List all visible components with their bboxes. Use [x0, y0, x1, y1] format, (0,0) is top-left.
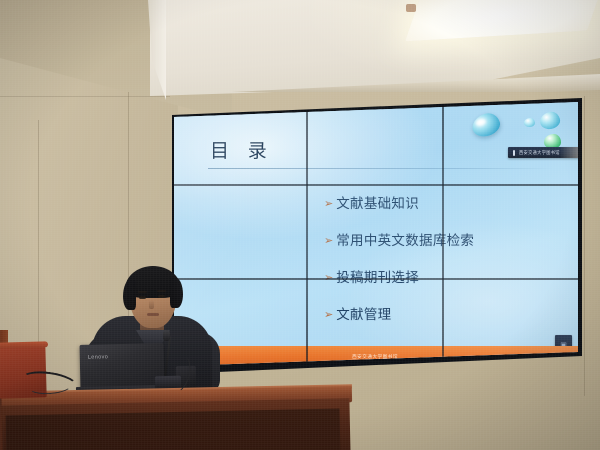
podium-shadow	[6, 409, 341, 450]
presenter-mouth	[147, 313, 159, 316]
water-droplet-icon	[469, 110, 502, 140]
videowall-seam	[172, 278, 578, 280]
presenter-eyebrow	[138, 291, 147, 293]
microphone-head-icon	[163, 330, 170, 341]
presenter-eyebrow	[157, 290, 166, 292]
slide-bullet-list: ➢ 文献基础知识 ➢ 常用中英文数据库检索 ➢ 投稿期刊选择 ➢ 文献管理	[324, 192, 474, 323]
logo-mark-icon	[513, 150, 515, 156]
bullet-label: 投稿期刊选择	[336, 266, 419, 286]
presentation-slide: 目 录 西安交通大学图书馆 ➢ 文献基础知识 ➢ 常用中英文数据库检索	[172, 100, 578, 368]
presenter-nose	[149, 300, 154, 309]
bullet-label: 常用中英文数据库检索	[336, 229, 474, 249]
bullet-arrow-icon: ➢	[324, 236, 333, 247]
title-underline	[208, 168, 553, 169]
bullet-label: 文献基础知识	[336, 192, 419, 212]
videowall-seam	[306, 100, 308, 368]
laptop[interactable]: Lenovo	[80, 343, 165, 391]
list-item: ➢ 文献基础知识	[324, 192, 474, 212]
videowall-seam	[172, 184, 578, 186]
list-item: ➢ 文献管理	[324, 303, 474, 323]
presenter-eye	[158, 295, 165, 298]
wall-seam	[584, 96, 585, 396]
presenter-hair-side	[123, 280, 136, 310]
bullet-arrow-icon: ➢	[324, 199, 333, 210]
videowall-screen[interactable]: 目 录 西安交通大学图书馆 ➢ 文献基础知识 ➢ 常用中英文数据库检索	[172, 100, 578, 368]
wall-seam	[0, 96, 170, 97]
light-fixture-clip	[406, 4, 416, 12]
water-droplet-icon	[524, 118, 535, 127]
list-item: ➢ 常用中英文数据库检索	[324, 229, 474, 249]
presenter-eye	[139, 296, 146, 299]
laptop-brand-label: Lenovo	[88, 354, 109, 360]
presenter-hair-side	[170, 278, 183, 308]
water-droplet-icon	[539, 110, 562, 130]
logo-bar-sheen	[560, 147, 578, 158]
videowall-seam	[442, 100, 444, 368]
list-item: ➢ 投稿期刊选择	[324, 266, 474, 286]
photo-scene: 目 录 西安交通大学图书馆 ➢ 文献基础知识 ➢ 常用中英文数据库检索	[0, 0, 600, 450]
bullet-label: 文献管理	[336, 303, 391, 323]
bullet-arrow-icon: ➢	[324, 310, 333, 321]
slide-logo-text: 西安交通大学图书馆	[519, 149, 560, 156]
slide-title: 目 录	[210, 136, 274, 163]
slide-logo-bar: 西安交通大学图书馆	[508, 147, 578, 158]
